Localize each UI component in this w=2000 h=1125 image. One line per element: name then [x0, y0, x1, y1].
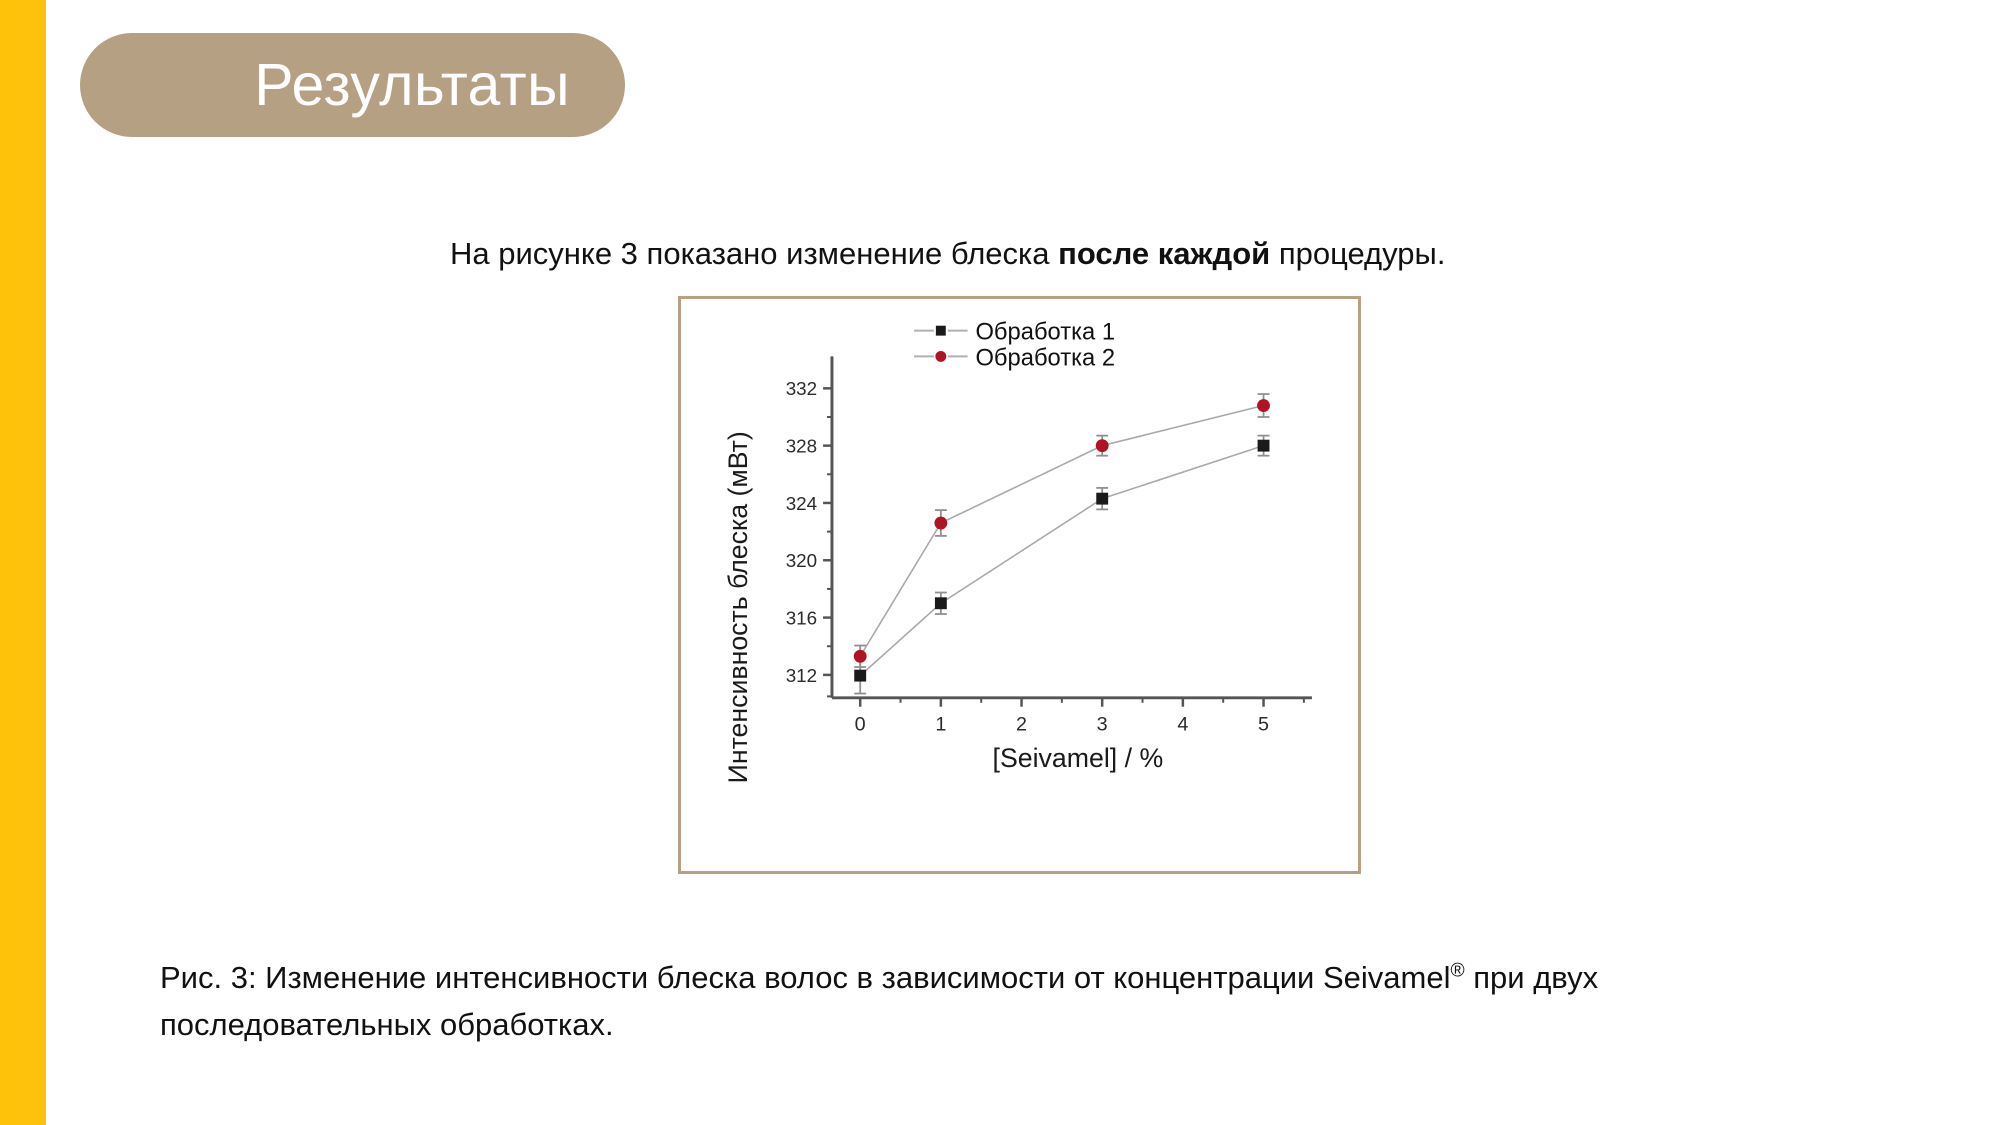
y-axis-tick-label: 324 [786, 493, 817, 514]
intro-paragraph: На рисунке 3 показано изменение блеска п… [450, 235, 1445, 274]
legend-item-2: Обработка 2 [914, 344, 1115, 371]
data-point-marker [854, 650, 867, 663]
x-axis-title: [Seivamel] / % [993, 743, 1164, 773]
y-axis-tick-label: 332 [786, 378, 817, 399]
gloss-intensity-line-chart: 312316320324328332012345[Seivamel] / %Ин… [681, 299, 1358, 871]
series-line [860, 446, 1263, 676]
slide-title-pill: Результаты [80, 33, 625, 137]
x-axis-tick-label: 5 [1258, 713, 1269, 735]
legend-label: Обработка 2 [975, 344, 1115, 371]
x-axis-tick-label: 0 [855, 713, 866, 735]
figure-3-frame: 312316320324328332012345[Seivamel] / %Ин… [678, 296, 1361, 874]
intro-text-bold: после каждой [1058, 236, 1270, 271]
y-axis-tick-label: 328 [786, 436, 817, 457]
data-point-marker [934, 517, 947, 530]
x-axis-tick-label: 3 [1097, 713, 1108, 735]
series-line [860, 406, 1263, 657]
legend-marker [936, 326, 946, 336]
data-point-marker [1257, 399, 1270, 412]
caption-registered-mark: ® [1450, 961, 1464, 982]
x-axis-tick-label: 4 [1177, 713, 1188, 735]
data-point-marker [935, 597, 947, 609]
left-accent-bar [0, 0, 46, 1125]
data-point-marker [1096, 493, 1108, 505]
y-axis-tick-label: 320 [786, 550, 817, 571]
data-point-marker [1096, 439, 1109, 452]
intro-text-part2: процедуры. [1270, 236, 1445, 271]
figure-caption: Рис. 3: Изменение интенсивности блеска в… [160, 955, 1840, 1048]
y-axis-tick-label: 316 [786, 608, 817, 629]
x-axis-tick-label: 1 [935, 713, 946, 735]
data-point-marker [854, 670, 866, 682]
page-title: Результаты [254, 56, 570, 115]
y-axis-title: Интенсивность блеска (мВт) [723, 431, 753, 783]
caption-prefix: Рис. 3: Изменение интенсивности блеска в… [160, 960, 1450, 995]
x-axis-tick-label: 2 [1016, 713, 1027, 735]
legend-label: Обработка 1 [975, 319, 1115, 346]
data-point-marker [1258, 440, 1270, 452]
y-axis-tick-label: 312 [786, 665, 817, 686]
legend-item-1: Обработка 1 [914, 319, 1115, 346]
legend-marker [935, 351, 946, 362]
intro-text-part1: На рисунке 3 показано изменение блеска [450, 236, 1058, 271]
